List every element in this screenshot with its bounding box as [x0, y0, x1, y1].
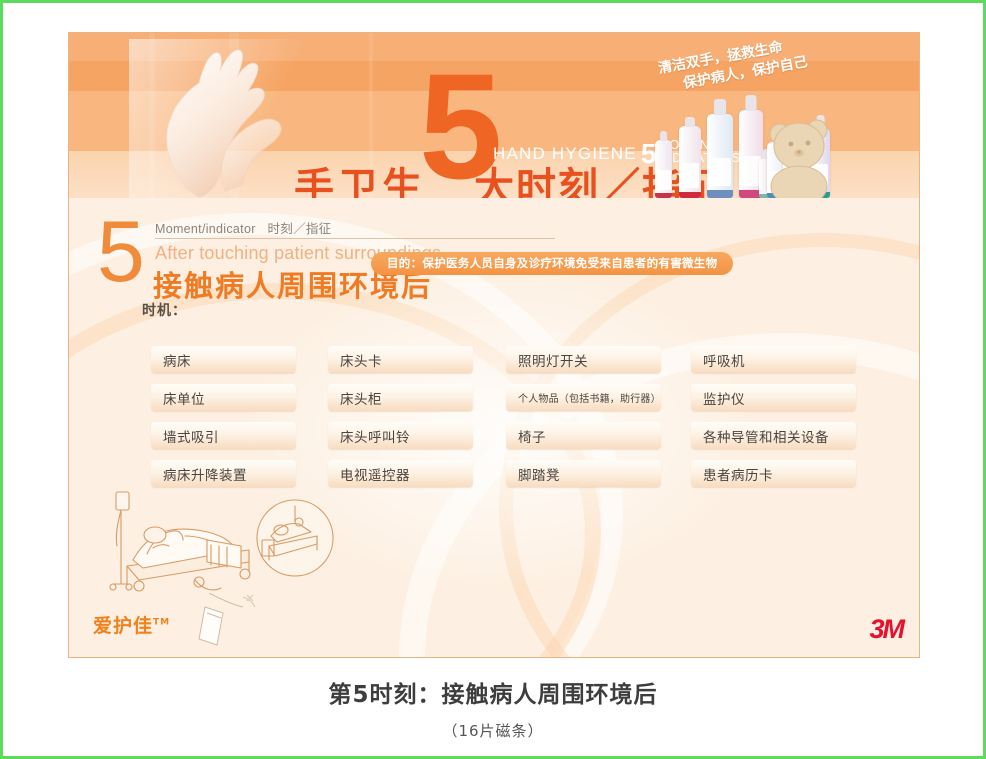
item-label: 床头卡	[328, 350, 382, 370]
item-label: 椅子	[506, 426, 546, 446]
item-column-2: 床头卡 床头柜 床头呼叫铃 电视遥控器	[328, 346, 473, 498]
section-rule	[155, 238, 555, 239]
header-title-cn-left: 手卫生	[294, 155, 426, 198]
item-label: 病床升降装置	[151, 464, 247, 484]
bottle-label	[656, 170, 670, 190]
item-tile[interactable]: 床头柜	[328, 384, 473, 411]
item-tile[interactable]: 床头卡	[328, 346, 473, 373]
item-tile[interactable]: 床单位	[151, 384, 296, 411]
item-tile[interactable]: 病床	[151, 346, 296, 373]
bottle-2	[679, 126, 701, 198]
bottle-cap	[745, 95, 756, 111]
item-label: 电视遥控器	[328, 464, 410, 484]
item-label: 各种导管和相关设备	[691, 426, 829, 446]
section-number: 5	[97, 209, 145, 295]
item-label: 照明灯开关	[506, 350, 588, 370]
item-label: 床头呼叫铃	[328, 426, 410, 446]
item-label: 监护仪	[691, 388, 745, 408]
item-tile[interactable]: 个人物品（包括书籍，助行器）	[506, 384, 661, 411]
timing-label: 时机：	[142, 300, 187, 320]
section-moment-en: Moment/indicator	[155, 222, 256, 236]
item-tile[interactable]: 呼吸机	[691, 346, 856, 373]
caption-title: 第5时刻：接触病人周围环境后	[3, 675, 983, 709]
page-root: 5 HAND HYGIENE5 MOMENTS/ INDICATORS 手卫生 …	[0, 0, 986, 759]
item-tile[interactable]: 患者病历卡	[691, 460, 856, 487]
trademark-symbol: TM	[153, 618, 170, 628]
patient-bed-illustration	[99, 488, 339, 603]
purpose-badge: 目的：保护医务人员自身及诊疗环境免受来自患者的有害微生物	[371, 252, 733, 275]
item-label: 呼吸机	[691, 350, 745, 370]
item-tile[interactable]: 监护仪	[691, 384, 856, 411]
hands-photo	[129, 39, 309, 198]
item-tile[interactable]: 墙式吸引	[151, 422, 296, 449]
bottle-cap	[685, 117, 695, 127]
logo-3m: 3M	[869, 614, 903, 645]
section-moment-label: Moment/indicator 时刻／指征	[155, 218, 331, 237]
bottle-cap	[714, 99, 726, 115]
brand-text: 爱护佳	[93, 615, 153, 637]
bottle-1	[655, 140, 672, 198]
caption-subtitle: （16片磁条）	[3, 720, 983, 741]
bottle-foot	[707, 190, 733, 198]
item-tile[interactable]: 各种导管和相关设备	[691, 422, 856, 449]
wipe-packet-illustration	[197, 593, 267, 655]
item-label: 床头柜	[328, 388, 382, 408]
item-tile[interactable]: 床头呼叫铃	[328, 422, 473, 449]
item-label: 脚踏凳	[506, 464, 560, 484]
poster-panel: 5 HAND HYGIENE5 MOMENTS/ INDICATORS 手卫生 …	[68, 32, 920, 658]
item-label: 患者病历卡	[691, 464, 773, 484]
item-tile[interactable]: 椅子	[506, 422, 661, 449]
bottle-label	[709, 158, 731, 187]
product-bottles	[655, 89, 845, 198]
bottle-3	[707, 114, 733, 198]
item-column-1: 病床 床单位 墙式吸引 病床升降装置	[151, 346, 296, 498]
bottle-label	[681, 163, 700, 187]
bottle-foot	[655, 193, 672, 198]
item-tile[interactable]: 脚踏凳	[506, 460, 661, 487]
teddy-bear-icon	[763, 112, 839, 198]
item-label: 个人物品（包括书籍，助行器）	[506, 390, 661, 405]
item-tile[interactable]: 电视遥控器	[328, 460, 473, 487]
item-label: 墙式吸引	[151, 426, 219, 446]
bottle-cap	[660, 131, 668, 141]
item-column-3: 照明灯开关 个人物品（包括书籍，助行器） 椅子 脚踏凳	[506, 346, 661, 498]
hands-glow	[129, 39, 309, 198]
section-moment-cn: 时刻／指征	[267, 222, 331, 236]
caption-block: 第5时刻：接触病人周围环境后 （16片磁条）	[3, 675, 983, 741]
item-tile[interactable]: 照明灯开关	[506, 346, 661, 373]
item-tile[interactable]: 病床升降装置	[151, 460, 296, 487]
item-label: 病床	[151, 350, 191, 370]
item-label: 床单位	[151, 388, 205, 408]
item-column-4: 呼吸机 监护仪 各种导管和相关设备 患者病历卡	[691, 346, 856, 498]
brand-name-cn: 爱护佳TM	[93, 611, 170, 638]
poster-header: 5 HAND HYGIENE5 MOMENTS/ INDICATORS 手卫生 …	[69, 33, 919, 198]
bottle-foot	[679, 192, 701, 198]
